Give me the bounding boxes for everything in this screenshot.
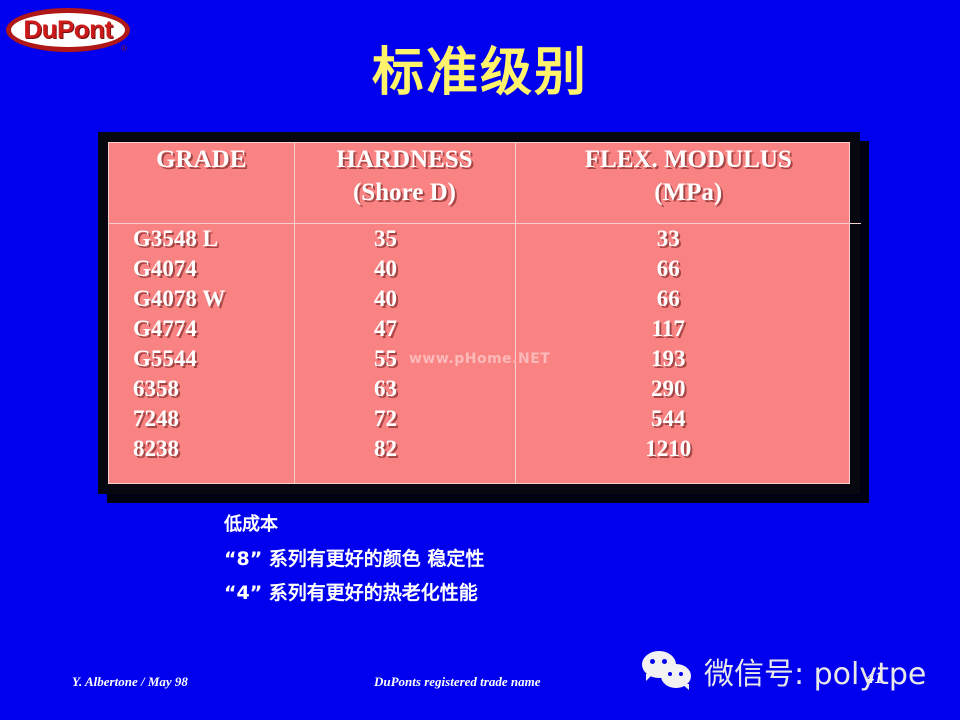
flex-modulus-value: 33 <box>516 224 822 254</box>
bullet-list: 低成本“8” 系列有更好的颜色 稳定性“4” 系列有更好的热老化性能 <box>224 508 484 610</box>
grade-value: 8238 <box>133 434 294 464</box>
specification-table: GRADE HARDNESS (Shore D) FLEX. MODULUS (… <box>98 132 860 494</box>
flex-modulus-value: 66 <box>516 254 822 284</box>
bullet-item: “4” 系列有更好的热老化性能 <box>224 576 484 610</box>
wechat-watermark: 微信号: polytpe <box>642 646 926 696</box>
column-header-flex-modulus: FLEX. MODULUS (MPa) <box>515 143 861 223</box>
flex-modulus-value: 193 <box>516 344 822 374</box>
hardness-value: 47 <box>295 314 477 344</box>
wechat-bubble-large-tail <box>646 674 653 681</box>
grade-value: G4774 <box>133 314 294 344</box>
page-title: 标准级别 <box>0 30 960 105</box>
flex-modulus-value: 117 <box>516 314 822 344</box>
column-header-flex-modulus-line1: FLEX. MODULUS <box>516 143 862 176</box>
flex-modulus-value: 544 <box>516 404 822 434</box>
wechat-eye-dot <box>679 672 683 676</box>
hardness-value: 40 <box>295 254 477 284</box>
column-header-flex-modulus-line2: (MPa) <box>516 176 862 209</box>
hardness-value: 72 <box>295 404 477 434</box>
footer-author: Y. Albertone / May 98 <box>72 674 188 690</box>
bullet-item: “8” 系列有更好的颜色 稳定性 <box>224 542 484 576</box>
flex-modulus-value: 66 <box>516 284 822 314</box>
wechat-bubble-small-tail <box>682 684 689 690</box>
wechat-eye-dot <box>668 672 672 676</box>
grade-value: G3548 L <box>133 224 294 254</box>
hardness-value: 63 <box>295 374 477 404</box>
footer-trademark-note: DuPonts registered trade name <box>374 674 540 690</box>
grade-value: G5544 <box>133 344 294 374</box>
hardness-value: 55 <box>295 344 477 374</box>
column-header-grade-line1: GRADE <box>109 143 294 176</box>
grade-properties-table: GRADE HARDNESS (Shore D) FLEX. MODULUS (… <box>109 143 861 483</box>
table-header-row: GRADE HARDNESS (Shore D) FLEX. MODULUS (… <box>109 143 861 223</box>
cell-grade-column: G3548 LG4074G4078 WG4774G554463587248823… <box>109 223 294 483</box>
cell-flex-modulus-column: 3366661171932905441210 <box>515 223 861 483</box>
column-header-hardness-line2: (Shore D) <box>295 176 515 209</box>
flex-modulus-value: 290 <box>516 374 822 404</box>
wechat-id-label: 微信号: polytpe <box>704 649 926 693</box>
column-header-hardness-line1: HARDNESS <box>295 143 515 176</box>
hardness-value: 40 <box>295 284 477 314</box>
hardness-value: 35 <box>295 224 477 254</box>
column-header-hardness: HARDNESS (Shore D) <box>294 143 515 223</box>
grade-value-list: G3548 LG4074G4078 WG4774G554463587248823… <box>109 224 294 464</box>
flex-modulus-value-list: 3366661171932905441210 <box>516 224 862 464</box>
grade-value: 7248 <box>133 404 294 434</box>
hardness-value-list: 3540404755637282 <box>295 224 515 464</box>
wechat-icon <box>642 649 696 693</box>
cell-hardness-column: 3540404755637282 <box>294 223 515 483</box>
flex-modulus-value: 1210 <box>516 434 822 464</box>
grade-value: G4074 <box>133 254 294 284</box>
wechat-eye-dot <box>650 659 655 664</box>
table-body-row: G3548 LG4074G4078 WG4774G554463587248823… <box>109 223 861 483</box>
hardness-value: 82 <box>295 434 477 464</box>
table-outer-frame: GRADE HARDNESS (Shore D) FLEX. MODULUS (… <box>98 132 860 494</box>
table-inner-panel: GRADE HARDNESS (Shore D) FLEX. MODULUS (… <box>108 142 850 484</box>
wechat-eye-dot <box>662 659 667 664</box>
grade-value: 6358 <box>133 374 294 404</box>
grade-value: G4078 W <box>133 284 294 314</box>
bullet-item: 低成本 <box>224 508 484 542</box>
column-header-grade: GRADE <box>109 143 294 223</box>
